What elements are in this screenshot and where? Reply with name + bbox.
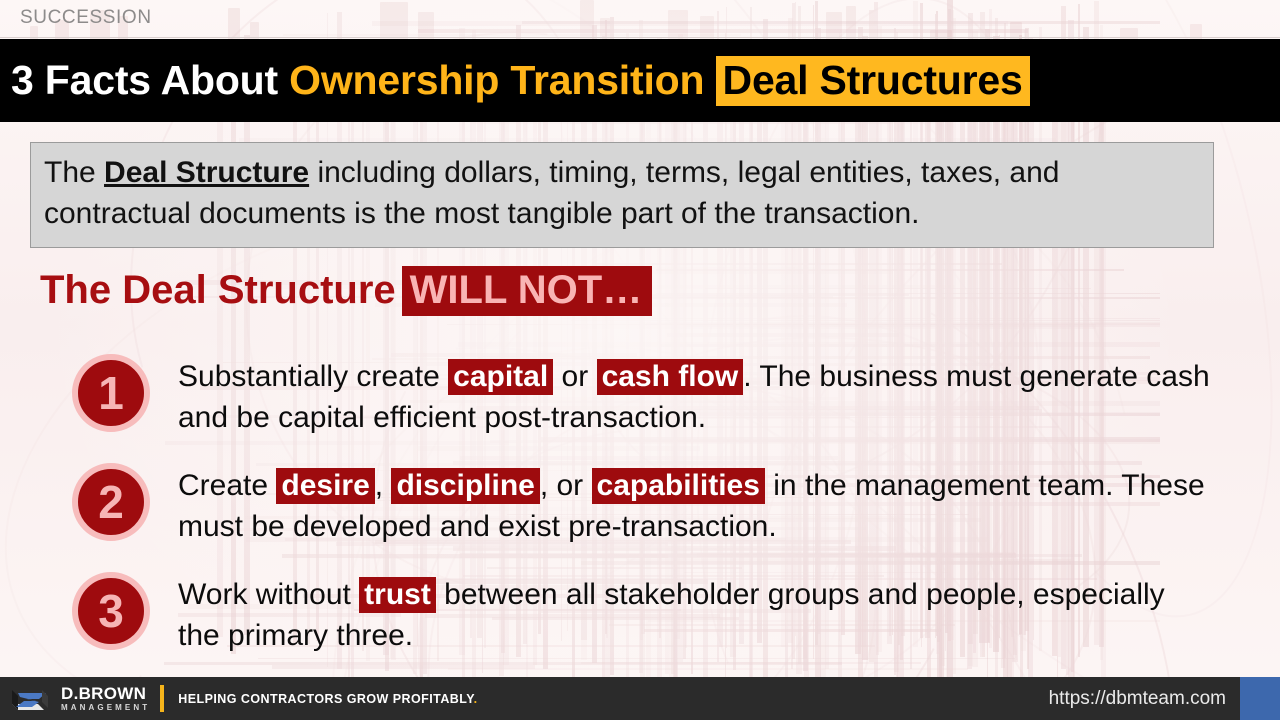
title-highlight-text: Deal Structures: [716, 56, 1030, 106]
sub-heading: The Deal StructureWILL NOT…: [40, 268, 652, 313]
title-band: 3 Facts About Ownership Transition Deal …: [0, 39, 1280, 122]
footer-divider: [160, 685, 164, 712]
list-item-highlight: trust: [359, 577, 436, 613]
list-item-plain: ,: [375, 469, 392, 502]
list-item-number-badge: 2: [72, 463, 150, 541]
skyline-silhouette: [0, 0, 1280, 40]
list-item-highlight: desire: [276, 468, 374, 504]
title-plain-text: 3 Facts About: [11, 57, 289, 103]
footer-tagline-dot: .: [474, 692, 478, 706]
list-item-number-badge: 3: [72, 572, 150, 650]
list-item-highlight: capabilities: [592, 468, 765, 504]
list-item-highlight: discipline: [391, 468, 539, 504]
brand-name: D.BROWN: [61, 685, 150, 702]
brand-logo[interactable]: D.BROWN MANAGEMENT: [0, 684, 150, 714]
list-item-highlight: cash flow: [597, 359, 744, 395]
sub-heading-plain: The Deal Structure: [40, 268, 396, 312]
page-title: 3 Facts About Ownership Transition Deal …: [0, 57, 1030, 104]
list-item-plain: , or: [540, 469, 592, 502]
footer-accent-block: [1240, 677, 1280, 720]
list-item-plain: Substantially create: [178, 360, 448, 393]
footer-bar: D.BROWN MANAGEMENT HELPING CONTRACTORS G…: [0, 677, 1280, 720]
list-item: 3Work without trust between all stakehol…: [72, 570, 1212, 657]
sub-heading-emphasis: WILL NOT…: [402, 266, 653, 316]
footer-tagline: HELPING CONTRACTORS GROW PROFITABLY.: [178, 692, 477, 706]
statement-before: The: [44, 156, 104, 189]
d-brown-logo-icon: [8, 684, 54, 714]
facts-list: 1Substantially create capital or cash fl…: [72, 352, 1212, 678]
list-item: 1Substantially create capital or cash fl…: [72, 352, 1212, 439]
statement-bold-term: Deal Structure: [104, 156, 309, 189]
list-item-plain: or: [553, 360, 596, 393]
slide-canvas: SUCCESSION 3 Facts About Ownership Trans…: [0, 0, 1280, 720]
brand-logo-text: D.BROWN MANAGEMENT: [61, 685, 150, 712]
list-item-text: Substantially create capital or cash flo…: [178, 352, 1212, 439]
list-item-text: Work without trust between all stakehold…: [178, 570, 1212, 657]
list-item-highlight: capital: [448, 359, 553, 395]
footer-tagline-text: HELPING CONTRACTORS GROW PROFITABLY: [178, 692, 473, 706]
statement-box: The Deal Structure including dollars, ti…: [30, 142, 1214, 248]
brand-subtitle: MANAGEMENT: [61, 704, 150, 712]
title-gold-text: Ownership Transition: [289, 57, 704, 103]
list-item-plain: Create: [178, 469, 276, 502]
list-item-text: Create desire, discipline, or capabiliti…: [178, 461, 1212, 548]
eyebrow-divider: [0, 37, 1280, 38]
list-item-plain: Work without: [178, 578, 359, 611]
footer-url[interactable]: https://dbmteam.com: [1049, 688, 1226, 710]
title-space: [704, 57, 715, 103]
eyebrow-label: SUCCESSION: [20, 7, 152, 29]
list-item-number-badge: 1: [72, 354, 150, 432]
list-item: 2Create desire, discipline, or capabilit…: [72, 461, 1212, 548]
